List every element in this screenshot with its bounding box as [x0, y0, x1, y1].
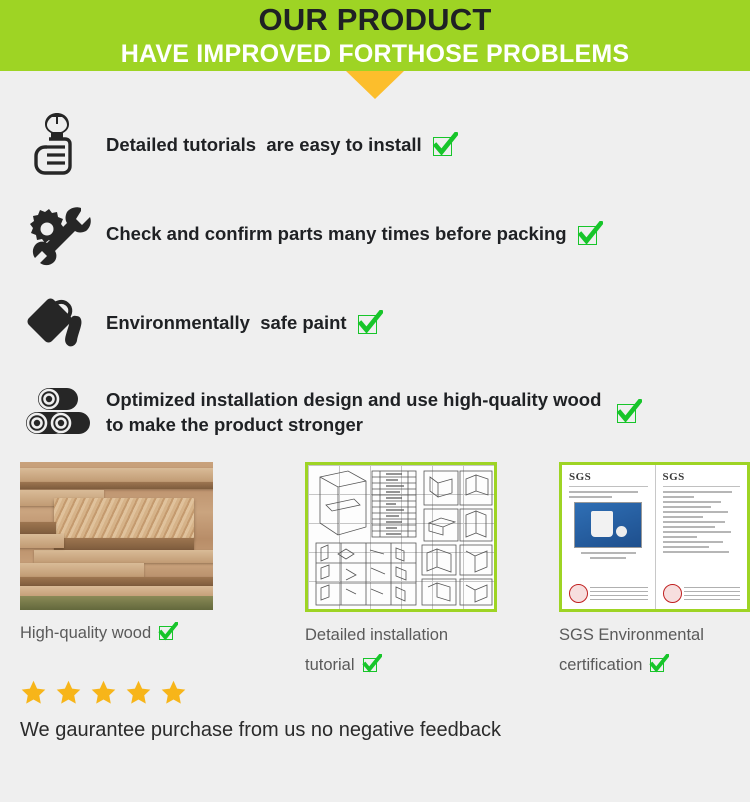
star-rating	[20, 679, 730, 706]
green-check-icon	[362, 654, 382, 674]
seal-stamp-icon	[569, 584, 588, 603]
header-banner: OUR PRODUCT HAVE IMPROVED FORTHOSE PROBL…	[0, 0, 750, 71]
proof-card: SGS SGS	[559, 462, 750, 680]
paint-bucket-icon	[22, 287, 94, 359]
guarantee-text: We gaurantee purchase from us no negativ…	[20, 715, 730, 745]
proof-card-list: High-quality wood	[0, 462, 750, 680]
proof-card: Detailed installation tutorial	[305, 462, 497, 680]
banner-title-secondary: HAVE IMPROVED FORTHOSE PROBLEMS	[0, 38, 750, 70]
feature-label: Check and confirm parts many times befor…	[106, 221, 567, 246]
star-icon	[20, 679, 47, 706]
proof-card: High-quality wood	[20, 462, 213, 680]
caption-text: High-quality wood	[20, 624, 151, 642]
green-check-icon	[649, 654, 669, 674]
feature-item: Optimized installation design and use hi…	[0, 367, 750, 456]
feature-item: Check and confirm parts many times befor…	[0, 189, 750, 278]
feature-item: Detailed tutorials are easy to install	[0, 100, 750, 189]
sgs-document-page: SGS	[562, 465, 655, 609]
green-check-icon	[616, 399, 642, 425]
rating-section: We gaurantee purchase from us no negativ…	[20, 679, 730, 745]
star-icon	[160, 679, 187, 706]
feature-label: Environmentally safe paint	[106, 310, 347, 335]
feature-label: Optimized installation design and use hi…	[106, 387, 606, 437]
star-icon	[55, 679, 82, 706]
caption-text: SGS Environmental certification	[559, 626, 704, 674]
sgs-document-page: SGS	[655, 465, 748, 609]
banner-title-primary: OUR PRODUCT	[0, 0, 750, 38]
feature-item: Environmentally safe paint	[0, 278, 750, 367]
proof-card-caption: SGS Environmental certification	[559, 620, 744, 680]
green-check-icon	[432, 132, 458, 158]
feature-list: Detailed tutorials are easy to install C…	[0, 100, 750, 456]
star-icon	[90, 679, 117, 706]
sgs-certification-documents-photo: SGS SGS	[559, 462, 750, 612]
green-check-icon	[577, 221, 603, 247]
green-check-icon	[357, 310, 383, 336]
assembly-instruction-sheet-photo	[305, 462, 497, 612]
feature-label: Detailed tutorials are easy to install	[106, 132, 422, 157]
sgs-logo: SGS	[663, 471, 741, 483]
star-icon	[125, 679, 152, 706]
wrench-in-hand-icon	[22, 109, 94, 181]
product-thumbnail	[574, 502, 642, 548]
gear-wrench-icon	[22, 198, 94, 270]
proof-card-caption: High-quality wood	[20, 618, 205, 648]
stacked-logs-icon	[22, 376, 94, 448]
seal-stamp-icon	[663, 584, 682, 603]
down-arrow-icon	[346, 71, 404, 99]
green-check-icon	[158, 622, 178, 642]
stacked-wood-boards-photo	[20, 462, 213, 610]
proof-card-caption: Detailed installation tutorial	[305, 620, 490, 680]
sgs-logo: SGS	[569, 471, 648, 483]
